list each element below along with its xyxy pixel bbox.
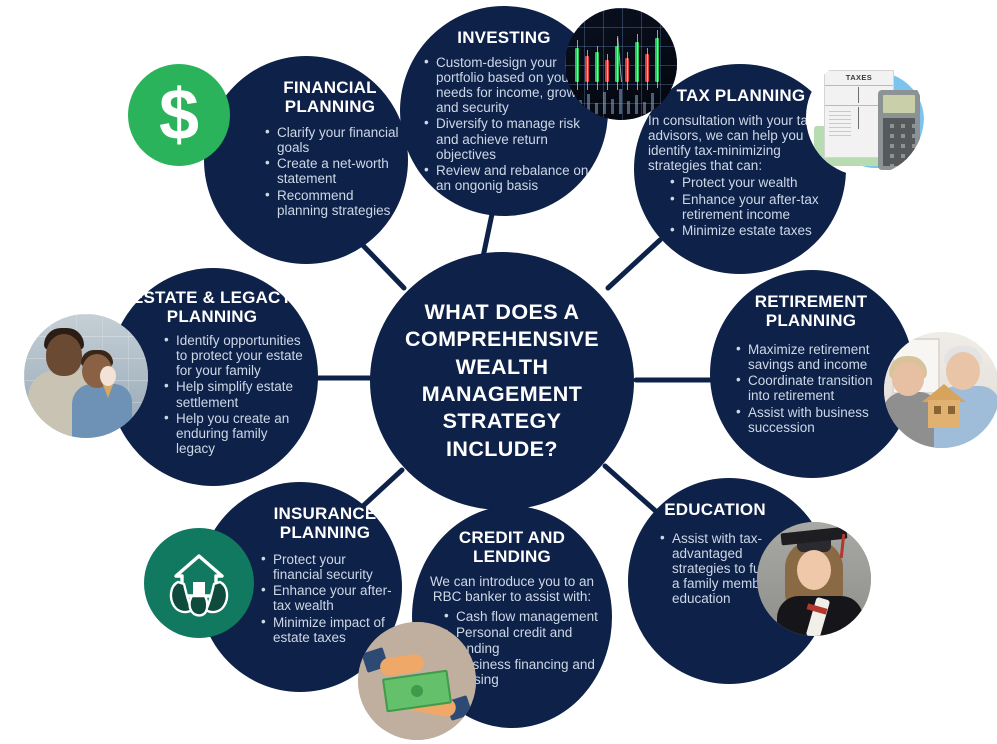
list-item: Assist with business succession [748, 405, 898, 435]
list-item: Protect your wealth [682, 175, 850, 190]
list-item: Maximize retirement savings and income [748, 342, 898, 372]
bullet-list-estate-and-legacy-planning: Identify opportunities to protect your e… [160, 333, 306, 457]
house-in-hands-icon [144, 528, 254, 638]
node-intro-tax-planning: In consultation with your tax advisors, … [648, 113, 820, 173]
list-item: Coordinate transition into retirement [748, 373, 898, 403]
list-item: Identify opportunities to protect your e… [176, 333, 306, 378]
list-item: Help you create an enduring family legac… [176, 411, 306, 456]
node-title-insurance-planning: INSURANCE PLANNING [258, 504, 392, 542]
list-item: Personal credit and lending [456, 625, 602, 655]
list-item: Business financing and leasing [456, 657, 602, 687]
node-financial-planning[interactable]: FINANCIAL PLANNING Clarify your financia… [204, 56, 408, 264]
connector-investing [483, 214, 492, 257]
dollar-sign-glyph: $ [159, 79, 199, 151]
center-title: WHAT DOES A COMPREHENSIVE WEALTH MANAGEM… [384, 299, 620, 463]
tax-form-label: TAXES [825, 73, 893, 82]
money-exchange-image [358, 622, 476, 740]
list-item: Help simplify estate settlement [176, 379, 306, 409]
list-item: Recommend planning strategies [277, 188, 401, 218]
dollar-sign-icon: $ [128, 64, 230, 166]
list-item: Create a net-worth statement [277, 156, 401, 186]
bullet-list-financial-planning: Clarify your financial goals Create a ne… [262, 125, 401, 219]
house-in-hands-glyph [162, 546, 236, 620]
connector-tax [608, 240, 660, 288]
list-item: Enhance your after-tax wealth [273, 583, 399, 613]
bullet-list-retirement-planning: Maximize retirement savings and income C… [722, 342, 898, 436]
father-and-child-image [24, 314, 148, 438]
node-title-retirement-planning: RETIREMENT PLANNING [722, 292, 900, 330]
infographic-canvas: WHAT DOES A COMPREHENSIVE WEALTH MANAGEM… [0, 0, 997, 744]
node-title-financial-planning: FINANCIAL PLANNING [262, 78, 398, 116]
stock-chart-image [565, 8, 677, 120]
list-item: Review and rebalance on an ongonig basis [436, 163, 604, 193]
list-item: Enhance your after-tax retirement income [682, 192, 850, 222]
list-item: Clarify your financial goals [277, 125, 401, 155]
list-item: Diversify to manage risk and achieve ret… [436, 116, 604, 161]
list-item: Cash flow management [456, 609, 602, 624]
list-item: Minimize estate taxes [682, 223, 850, 238]
node-title-credit-and-lending: CREDIT AND LENDING [422, 528, 602, 566]
senior-couple-image [884, 332, 997, 448]
bullet-list-tax-planning: Protect your wealth Enhance your after-t… [648, 175, 850, 238]
graduate-student-image [757, 522, 871, 636]
list-item: Protect your financial security [273, 552, 399, 582]
node-title-education: EDUCATION [640, 500, 790, 519]
tax-form-calculator-image: $ TAXES [806, 58, 924, 176]
center-node: WHAT DOES A COMPREHENSIVE WEALTH MANAGEM… [370, 252, 634, 510]
node-intro-credit-and-lending: We can introduce you to an RBC banker to… [421, 574, 603, 604]
